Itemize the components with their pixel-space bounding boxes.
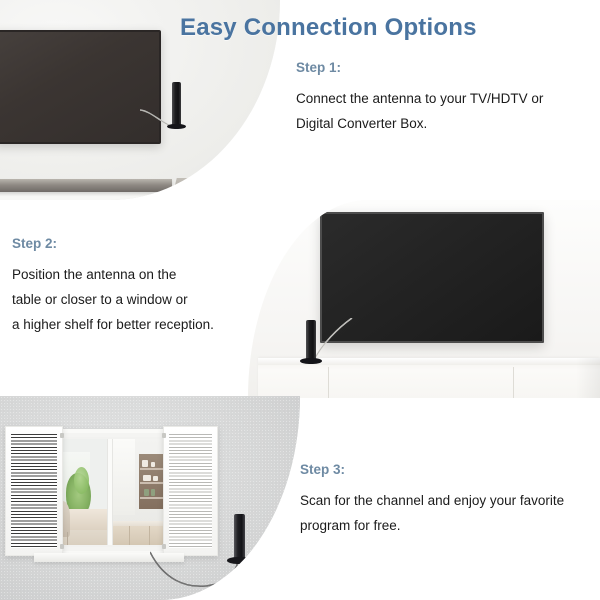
step-3-line-1: Scan for the channel and enjoy your favo… — [300, 488, 592, 513]
shelf-item — [142, 460, 148, 467]
antenna-base — [167, 124, 186, 129]
wall-shelf-right — [171, 178, 280, 200]
step-1-line-1: Connect the antenna to your TV/HDTV or — [296, 86, 586, 111]
interior-column — [109, 439, 135, 515]
step-2-label: Step 2: — [12, 236, 248, 251]
window-pane-right — [109, 439, 168, 545]
step-2-line-3: a higher shelf for better reception. — [12, 312, 248, 337]
promo-infographic: Easy Connection Options Step 1: Connect … — [0, 0, 600, 600]
console-shadow — [576, 358, 600, 398]
flat-antenna — [234, 514, 245, 559]
flat-antenna — [172, 82, 181, 126]
shelf-board — [140, 482, 164, 484]
cabinet-seam — [149, 526, 150, 545]
console-drawer-seam — [513, 367, 514, 398]
baseboard — [0, 191, 176, 200]
window-mullion — [107, 439, 113, 545]
step-2-line-2: table or closer to a window or — [12, 287, 248, 312]
step-3-line-2: program for free. — [300, 513, 592, 538]
step-1-line-2: Digital Converter Box. — [296, 111, 586, 136]
hinge-icon — [162, 433, 166, 438]
step-2-line-1: Position the antenna on the — [12, 262, 248, 287]
shelf-item — [153, 476, 158, 482]
shelf-item — [143, 475, 150, 482]
step-1-block: Step 1: Connect the antenna to your TV/H… — [296, 60, 586, 136]
hinge-icon — [60, 544, 64, 549]
houseplant-top — [74, 467, 89, 495]
kitchen-shelving — [139, 454, 166, 509]
step-3-label: Step 3: — [300, 462, 592, 477]
tv-screen — [0, 32, 159, 142]
hinge-icon — [60, 433, 64, 438]
shelf-item — [151, 489, 155, 496]
step-3-block: Step 3: Scan for the channel and enjoy y… — [300, 462, 592, 538]
shutter-right — [163, 426, 218, 556]
shutter-louvers — [11, 434, 57, 548]
page-title: Easy Connection Options — [180, 14, 477, 42]
shelf-item — [144, 489, 149, 496]
shelf-board — [140, 468, 164, 470]
wall-shelf — [0, 179, 172, 192]
window-glass-area — [46, 437, 170, 547]
shelf-item — [151, 462, 155, 468]
shelf-board — [140, 497, 164, 499]
chair-leg — [67, 532, 69, 545]
interior-counter — [68, 509, 107, 530]
television — [0, 30, 161, 144]
cabinet-seam — [129, 526, 130, 545]
step-1-label: Step 1: — [296, 60, 586, 75]
media-console — [258, 358, 600, 398]
shutter-louvers — [169, 434, 212, 548]
shutter-left — [5, 426, 63, 556]
photo-panel-step2 — [248, 200, 600, 398]
kitchen-cabinets — [109, 526, 168, 545]
antenna-base — [300, 358, 322, 364]
flat-antenna — [306, 320, 316, 360]
antenna-base — [227, 557, 252, 564]
console-drawer-seam — [328, 367, 329, 398]
step-2-block: Step 2: Position the antenna on the tabl… — [12, 236, 248, 337]
coaxial-cable-icon — [150, 546, 245, 592]
photo-panel-step3 — [0, 396, 300, 600]
